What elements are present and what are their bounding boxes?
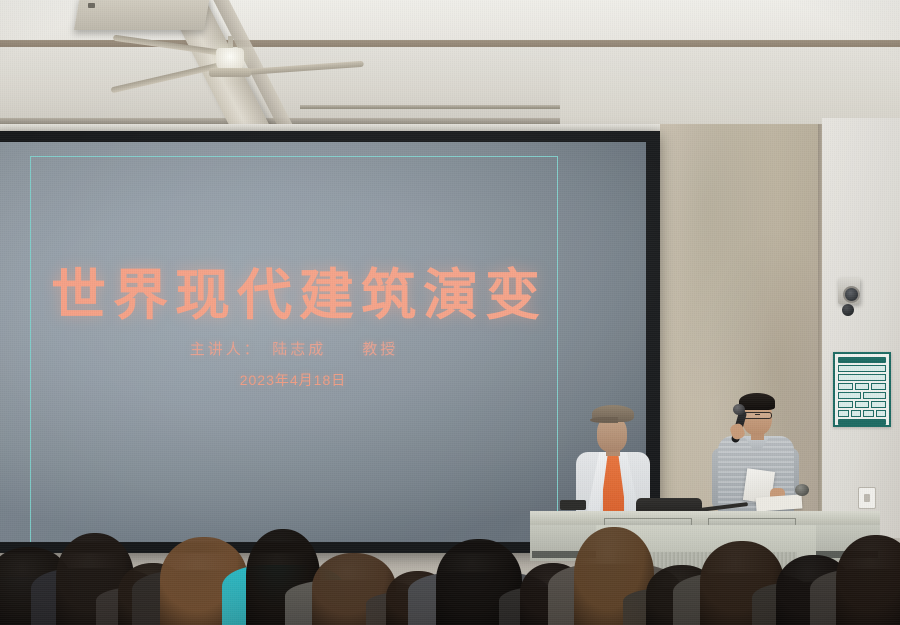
poster-row — [838, 392, 886, 399]
audience-head-14 — [836, 535, 900, 625]
projector-mount-screw — [88, 3, 95, 8]
lecture-hall-photo: 世界现代建筑演变 主讲人： 陆志成 教授 2023年4月18日 — [0, 0, 900, 625]
slide-title: 世界现代建筑演变 — [0, 250, 604, 330]
flat-cap-brim — [590, 417, 618, 423]
slide-date: 2023年4月18日 — [0, 370, 592, 390]
poster-title-box — [838, 365, 886, 372]
poster-header-bar — [838, 357, 886, 363]
power-outlet-icon — [858, 487, 876, 509]
security-camera-icon — [843, 286, 860, 303]
desk-knob — [795, 484, 809, 496]
projection-screen: 世界现代建筑演变 主讲人： 陆志成 教授 2023年4月18日 — [0, 142, 646, 542]
desk-phone — [560, 500, 586, 510]
poster-footer-bar — [838, 419, 886, 425]
safety-flowchart-poster — [833, 352, 891, 427]
security-camera-dome — [842, 304, 854, 316]
right-wall — [822, 118, 900, 538]
poster-row — [838, 383, 886, 390]
poster-row — [838, 410, 886, 417]
ceiling-fan-hub — [209, 68, 251, 77]
poster-intro-box — [838, 374, 886, 381]
slide-presenter-line: 主讲人： 陆志成 教授 — [0, 338, 594, 359]
poster-row — [838, 401, 886, 408]
back-wall-upper — [560, 47, 900, 125]
microphone-head — [733, 404, 745, 415]
glasses-bridge — [755, 414, 760, 415]
